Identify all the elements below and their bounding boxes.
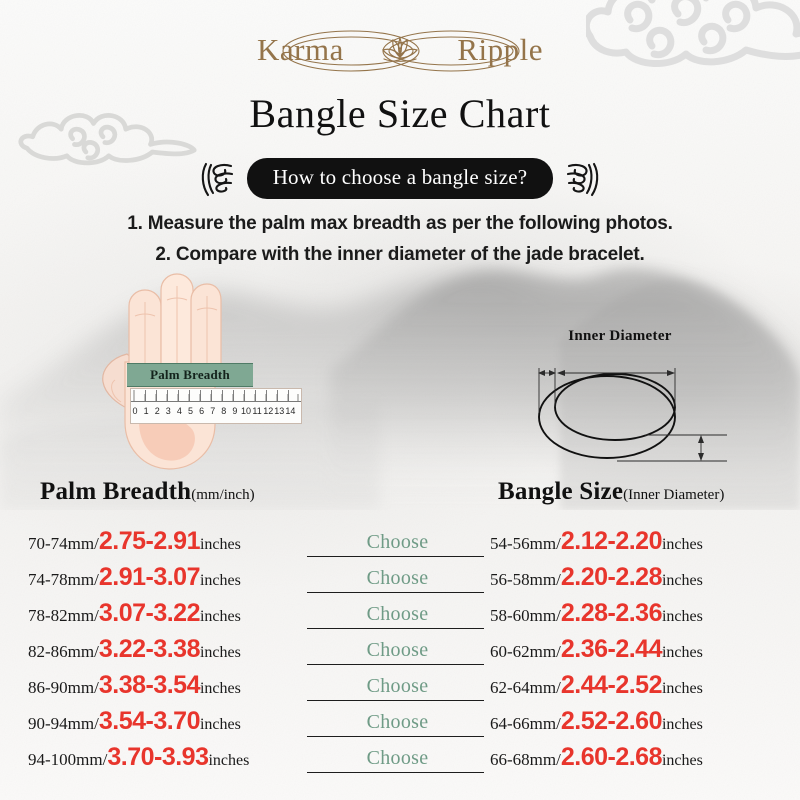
palm-breadth-band-label: Palm Breadth <box>127 363 253 387</box>
bangle-size-inches: 2.36-2.44 <box>561 635 662 663</box>
bangle-size-inches: 2.20-2.28 <box>561 563 662 591</box>
bangle-size-mm: 62-64mm/ <box>490 678 561 697</box>
table-row: 90-94mm/3.54-3.70inchesChoose64-66mm/2.5… <box>0 703 800 739</box>
choose-underline <box>307 592 484 593</box>
palm-breadth-cell: 78-82mm/3.07-3.22inches <box>0 599 305 628</box>
palm-breadth-unit: inches <box>208 752 249 769</box>
palm-breadth-unit: inches <box>200 644 241 661</box>
inner-diameter-label: Inner Diameter <box>505 328 735 345</box>
bangle-size-inches: 2.28-2.36 <box>561 599 662 627</box>
instruction-step-2: 2. Compare with the inner diameter of th… <box>0 239 800 270</box>
choose-cell[interactable]: Choose <box>305 739 490 775</box>
ruler-tick-label: 13 <box>274 406 284 416</box>
choose-label[interactable]: Choose <box>367 675 429 703</box>
bangle-size-mm: 56-58mm/ <box>490 570 561 589</box>
table-row: 70-74mm/2.75-2.91inchesChoose54-56mm/2.1… <box>0 523 800 559</box>
palm-breadth-mm: 90-94mm/ <box>28 714 99 733</box>
palm-breadth-cell: 86-90mm/3.38-3.54inches <box>0 671 305 700</box>
palm-breadth-mm: 86-90mm/ <box>28 678 99 697</box>
palm-breadth-inches: 3.07-3.22 <box>99 599 200 627</box>
choose-underline <box>307 700 484 701</box>
section-title: Palm Breadth <box>40 478 191 505</box>
brand-logo: Karma Ripple <box>0 20 800 82</box>
section-subtitle: (mm/inch) <box>191 487 254 503</box>
bangle-size-unit: inches <box>662 572 703 589</box>
palm-breadth-inches: 3.22-3.38 <box>99 635 200 663</box>
choose-underline <box>307 736 484 737</box>
bangle-size-chart-page: Karma Ripple Bangle Size Chart How to ch… <box>0 0 800 800</box>
palm-breadth-cell: 70-74mm/2.75-2.91inches <box>0 527 305 556</box>
palm-breadth-inches: 3.38-3.54 <box>99 671 200 699</box>
choose-label[interactable]: Choose <box>367 639 429 667</box>
choose-underline <box>307 772 484 773</box>
choose-label[interactable]: Choose <box>367 531 429 559</box>
palm-breadth-mm: 78-82mm/ <box>28 606 99 625</box>
section-header-bangle-size: Bangle Size(Inner Diameter) <box>498 478 724 506</box>
choose-cell[interactable]: Choose <box>305 703 490 739</box>
bangle-inner-diameter-illustration: Inner Diameter <box>505 328 735 473</box>
instruction-step-1: 1. Measure the palm max breadth as per t… <box>0 208 800 239</box>
choose-cell[interactable]: Choose <box>305 631 490 667</box>
ruler-tick-label: 10 <box>241 406 251 416</box>
bangle-size-inches: 2.52-2.60 <box>561 707 662 735</box>
section-subtitle: (Inner Diameter) <box>623 487 724 503</box>
bangle-size-unit: inches <box>662 536 703 553</box>
palm-breadth-unit: inches <box>200 680 241 697</box>
choose-cell[interactable]: Choose <box>305 559 490 595</box>
palm-breadth-mm: 82-86mm/ <box>28 642 99 661</box>
bangle-size-mm: 58-60mm/ <box>490 606 561 625</box>
brand-word-1: Karma <box>257 34 344 68</box>
bangle-size-cell: 56-58mm/2.20-2.28inches <box>490 563 800 592</box>
ruler-tick-label: 2 <box>155 406 160 416</box>
ruler-tick-label: 3 <box>166 406 171 416</box>
bangle-size-cell: 64-66mm/2.52-2.60inches <box>490 707 800 736</box>
ruler-tick-label: 12 <box>263 406 273 416</box>
choose-label[interactable]: Choose <box>367 567 429 595</box>
bangle-size-cell: 60-62mm/2.36-2.44inches <box>490 635 800 664</box>
palm-breadth-mm: 94-100mm/ <box>28 750 107 769</box>
table-row: 94-100mm/3.70-3.93inchesChoose66-68mm/2.… <box>0 739 800 775</box>
bangle-size-unit: inches <box>662 680 703 697</box>
palm-breadth-cell: 74-78mm/2.91-3.07inches <box>0 563 305 592</box>
bangle-size-cell: 54-56mm/2.12-2.20inches <box>490 527 800 556</box>
bangle-size-unit: inches <box>662 608 703 625</box>
ruler-tick-label: 5 <box>188 406 193 416</box>
palm-breadth-inches: 3.70-3.93 <box>107 743 208 771</box>
bangle-size-mm: 54-56mm/ <box>490 534 561 553</box>
bangle-size-mm: 66-68mm/ <box>490 750 561 769</box>
bangle-size-unit: inches <box>662 716 703 733</box>
bangle-size-mm: 60-62mm/ <box>490 642 561 661</box>
ruler-tick-label: 1 <box>144 406 149 416</box>
ruler-tick-label: 6 <box>199 406 204 416</box>
palm-breadth-cell: 94-100mm/3.70-3.93inches <box>0 743 305 772</box>
table-row: 82-86mm/3.22-3.38inchesChoose60-62mm/2.3… <box>0 631 800 667</box>
table-row: 74-78mm/2.91-3.07inchesChoose56-58mm/2.2… <box>0 559 800 595</box>
bangle-size-inches: 2.60-2.68 <box>561 743 662 771</box>
brand-word-2: Ripple <box>457 34 543 68</box>
choose-cell[interactable]: Choose <box>305 523 490 559</box>
palm-breadth-inches: 2.75-2.91 <box>99 527 200 555</box>
choose-label[interactable]: Choose <box>367 711 429 739</box>
choose-underline <box>307 664 484 665</box>
ruler-tick-label: 4 <box>177 406 182 416</box>
palm-breadth-unit: inches <box>200 608 241 625</box>
instruction-steps: 1. Measure the palm max breadth as per t… <box>0 208 800 270</box>
palm-breadth-inches: 2.91-3.07 <box>99 563 200 591</box>
flourish-ornament-right-icon <box>565 159 599 199</box>
ruler-tick-label: 11 <box>252 406 261 416</box>
ruler-tick-label: 8 <box>221 406 226 416</box>
choose-cell[interactable]: Choose <box>305 595 490 631</box>
ruler-tick-label: 14 <box>285 406 295 416</box>
choose-cell[interactable]: Choose <box>305 667 490 703</box>
how-to-badge-row: How to choose a bangle size? <box>0 158 800 199</box>
how-to-badge: How to choose a bangle size? <box>247 158 554 199</box>
page-title: Bangle Size Chart <box>0 90 800 137</box>
bangle-size-inches: 2.12-2.20 <box>561 527 662 555</box>
bangle-size-unit: inches <box>662 644 703 661</box>
choose-underline <box>307 556 484 557</box>
bangle-size-inches: 2.44-2.52 <box>561 671 662 699</box>
bangle-size-unit: inches <box>662 752 703 769</box>
palm-breadth-unit: inches <box>200 536 241 553</box>
palm-breadth-inches: 3.54-3.70 <box>99 707 200 735</box>
flourish-ornament-left-icon <box>201 159 235 199</box>
table-row: 86-90mm/3.38-3.54inchesChoose62-64mm/2.4… <box>0 667 800 703</box>
ruler-tick-label: 9 <box>232 406 237 416</box>
palm-breadth-mm: 74-78mm/ <box>28 570 99 589</box>
palm-breadth-cell: 90-94mm/3.54-3.70inches <box>0 707 305 736</box>
palm-breadth-mm: 70-74mm/ <box>28 534 99 553</box>
bangle-ring-diagram-icon <box>505 351 735 473</box>
bangle-size-cell: 58-60mm/2.28-2.36inches <box>490 599 800 628</box>
palm-breadth-unit: inches <box>200 716 241 733</box>
bangle-size-cell: 62-64mm/2.44-2.52inches <box>490 671 800 700</box>
bangle-size-mm: 64-66mm/ <box>490 714 561 733</box>
size-conversion-table: 70-74mm/2.75-2.91inchesChoose54-56mm/2.1… <box>0 523 800 775</box>
hand-measurement-illustration: Palm Breadth <box>95 272 365 472</box>
bangle-size-cell: 66-68mm/2.60-2.68inches <box>490 743 800 772</box>
choose-label[interactable]: Choose <box>367 603 429 631</box>
palm-breadth-cell: 82-86mm/3.22-3.38inches <box>0 635 305 664</box>
ruler-tick-label: 7 <box>210 406 215 416</box>
table-row: 78-82mm/3.07-3.22inchesChoose58-60mm/2.2… <box>0 595 800 631</box>
choose-underline <box>307 628 484 629</box>
palm-breadth-unit: inches <box>200 572 241 589</box>
choose-label[interactable]: Choose <box>367 747 429 775</box>
ruler-graphic: 01234567891011121314 <box>130 388 302 424</box>
section-header-palm-breadth: Palm Breadth(mm/inch) <box>40 478 255 506</box>
ruler-tick-label: 0 <box>132 406 137 416</box>
section-title: Bangle Size <box>498 478 623 505</box>
